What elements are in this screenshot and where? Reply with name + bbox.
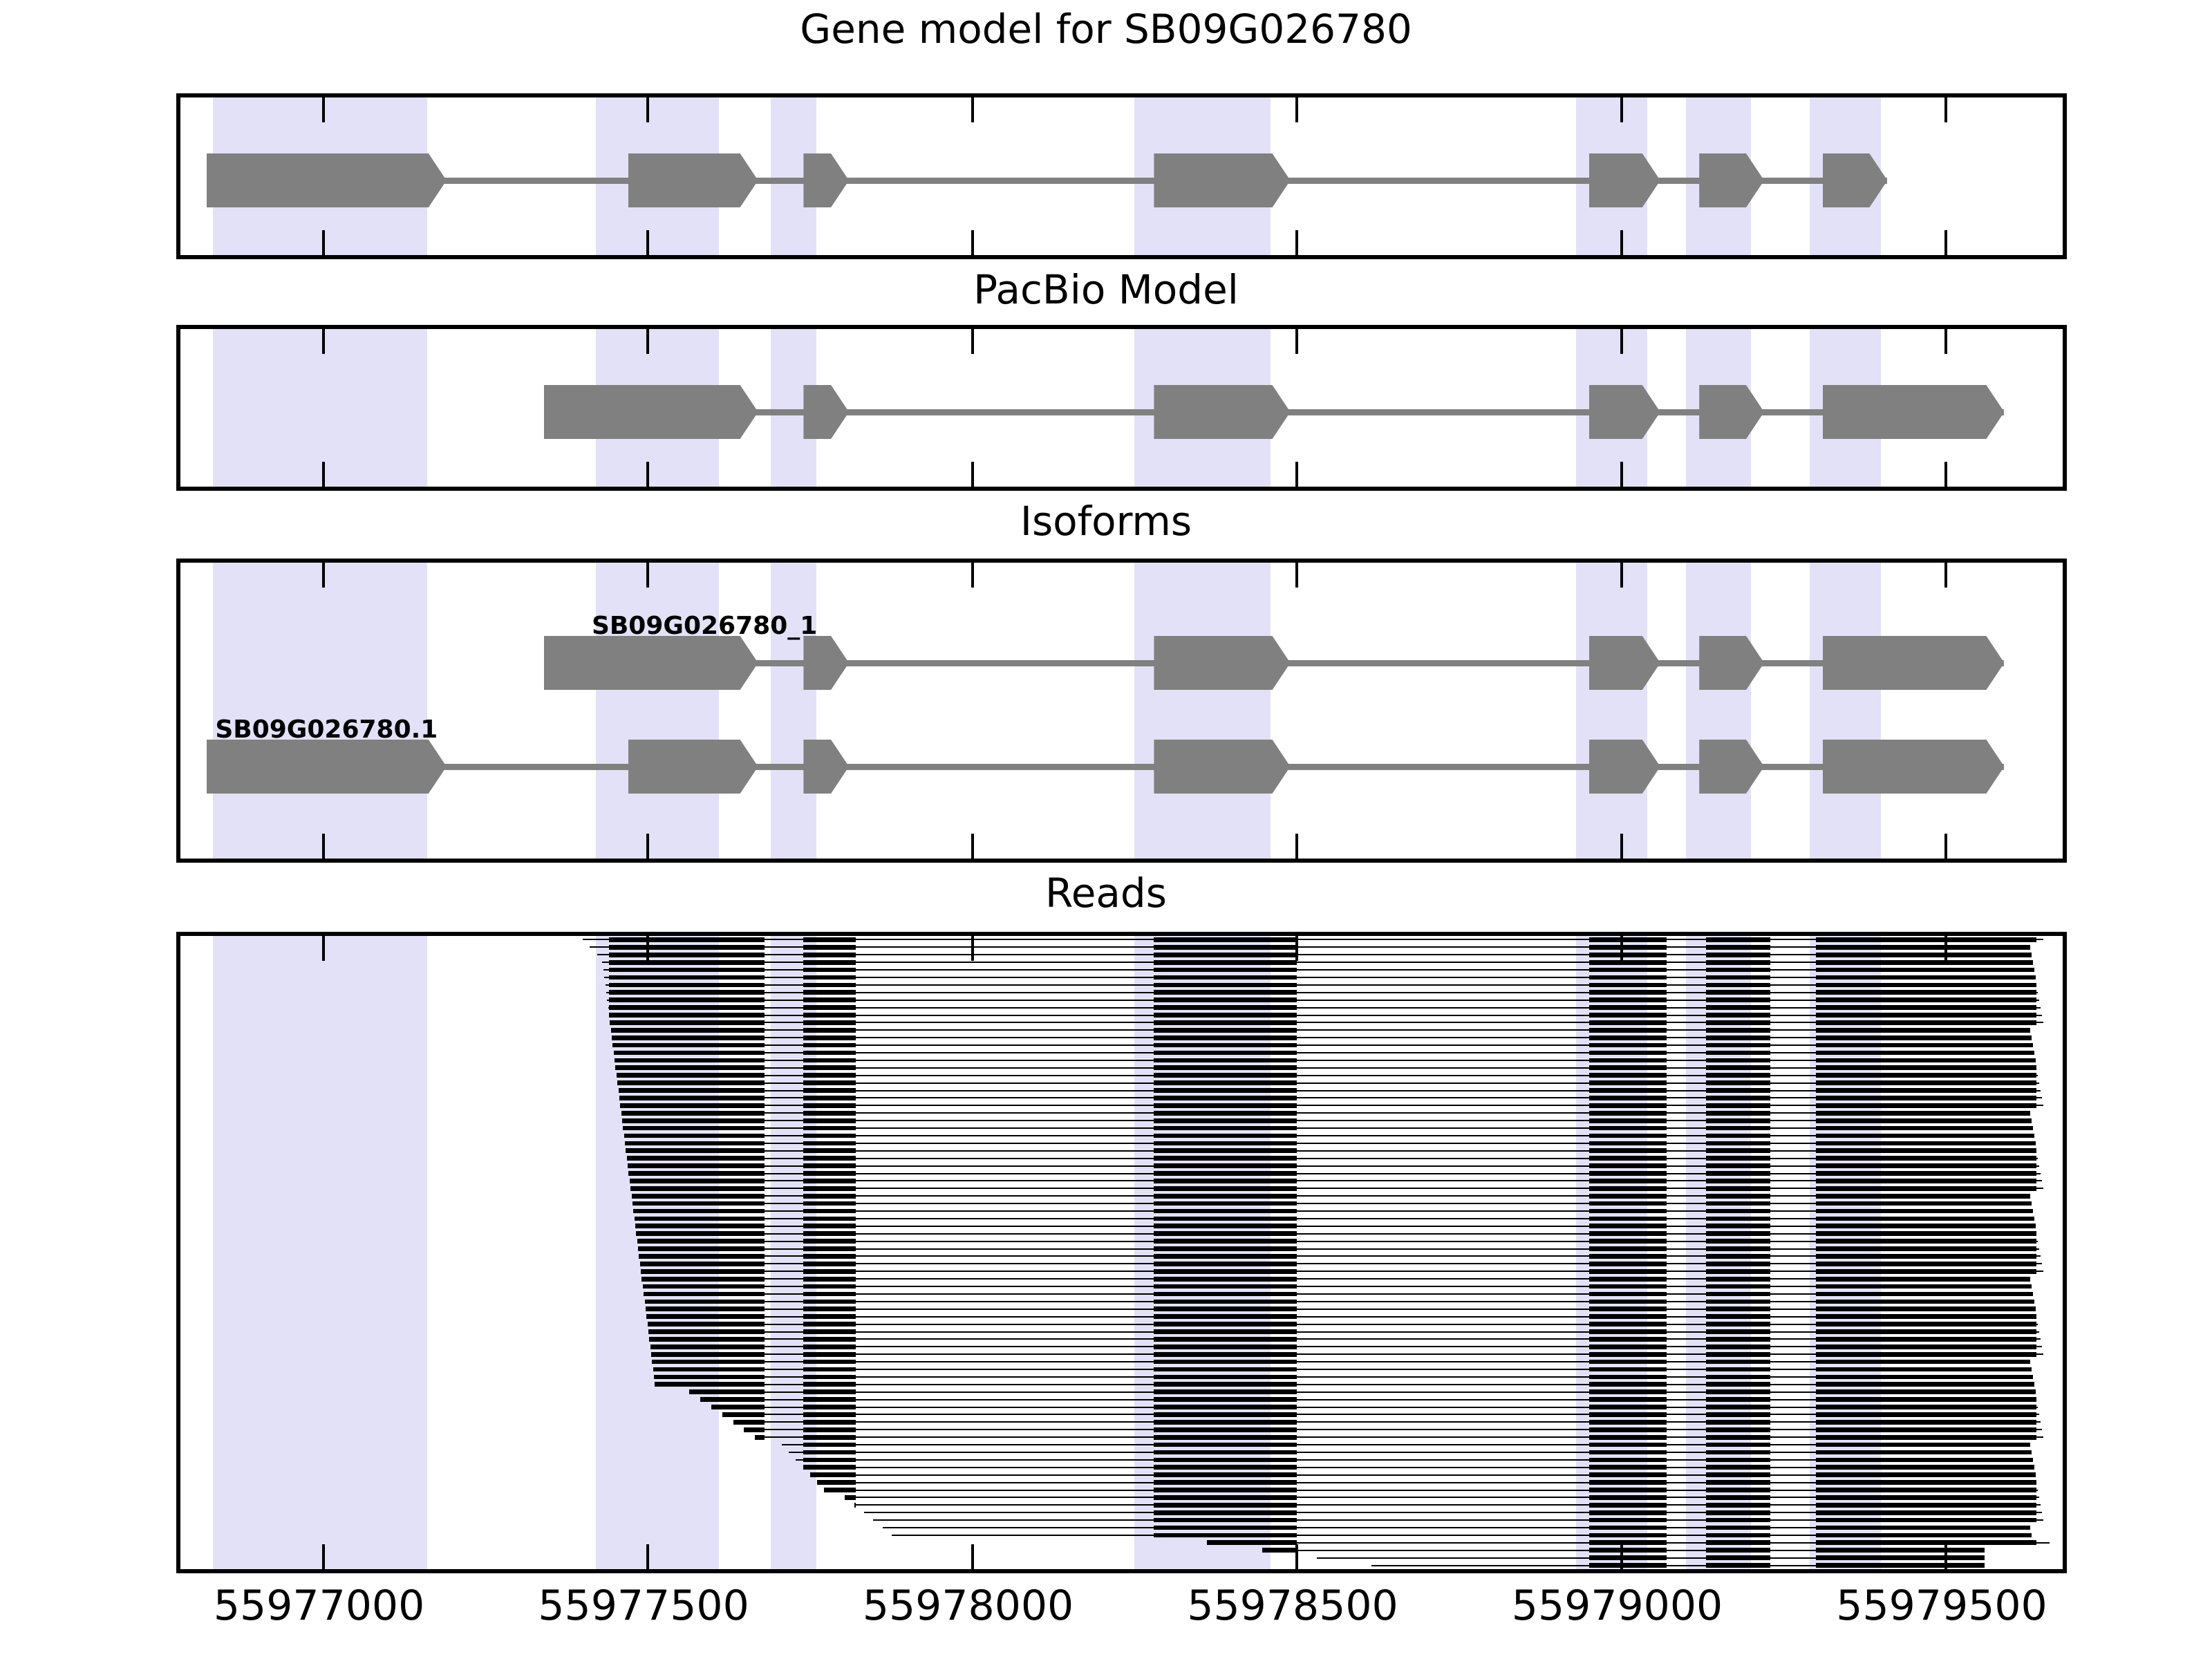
read-exon-block: [617, 1073, 765, 1078]
axis-tick: [971, 462, 974, 487]
exon-block: [1823, 740, 2005, 794]
read-exon-block: [1816, 1397, 2036, 1402]
axis-tick: [1620, 97, 1623, 122]
exon-block: [803, 740, 849, 794]
read-exon-block: [803, 1118, 855, 1123]
highlight-band: [771, 563, 816, 859]
read-exon-block: [1706, 1111, 1771, 1116]
read-exon-block: [1589, 1284, 1667, 1289]
read-exon-block: [1816, 1488, 2036, 1492]
read-exon-block: [1816, 997, 2036, 1002]
read-exon-block: [1589, 1148, 1667, 1153]
read-exon-block: [1706, 1005, 1771, 1010]
read-exon-block: [1816, 1171, 2036, 1176]
read-exon-block: [1816, 1269, 2036, 1274]
read-exon-block: [1706, 1231, 1771, 1236]
read-exon-block: [1816, 1118, 2032, 1123]
read-exon-block: [646, 1306, 765, 1311]
read-exon-block: [1589, 1563, 1667, 1568]
read-exon-block: [1706, 1043, 1771, 1048]
read-exon-block: [1589, 1186, 1667, 1191]
exon-block: [628, 153, 758, 207]
read-exon-block: [1589, 1443, 1667, 1447]
read-exon-block: [1706, 937, 1771, 942]
read-exon-block: [1589, 1179, 1667, 1183]
read-exon-block: [1706, 960, 1771, 965]
read-exon-block: [1706, 1329, 1771, 1334]
read-exon-block: [1154, 1163, 1297, 1168]
read-exon-block: [1154, 945, 1297, 950]
axis-tick: [1620, 462, 1623, 487]
read-exon-block: [1706, 1194, 1771, 1199]
read-exon-block: [803, 1028, 855, 1033]
axis-tick: [322, 329, 325, 354]
read-exon-block: [1706, 1397, 1771, 1402]
read-exon-block: [1816, 1375, 2033, 1380]
read-exon-block: [803, 1465, 855, 1470]
read-exon-block: [803, 983, 855, 988]
read-exon-block: [1589, 1277, 1667, 1282]
axis-tick: [1295, 563, 1298, 588]
panel-title-gene-model: Gene model for SB09G026780: [0, 6, 2212, 53]
read-exon-block: [1154, 1005, 1297, 1010]
read-exon-block: [1589, 1306, 1667, 1311]
read-exon-block: [1589, 1375, 1667, 1380]
read-exon-block: [1154, 1043, 1297, 1048]
read-exon-block: [803, 1065, 855, 1070]
read-exon-block: [1706, 1480, 1771, 1485]
read-exon-block: [803, 1352, 855, 1357]
read-exon-block: [803, 1217, 855, 1221]
read-exon-block: [803, 1096, 855, 1100]
read-exon-block: [1816, 1412, 2036, 1417]
read-exon-block: [1816, 1035, 2032, 1040]
read-exon-block: [609, 997, 765, 1002]
exon-block: [1823, 385, 2005, 439]
read-exon-block: [1816, 1224, 2035, 1228]
read-exon-block: [632, 1201, 765, 1206]
read-exon-block: [1816, 1186, 2036, 1191]
read-exon-block: [1154, 1217, 1297, 1221]
read-exon-block: [803, 1126, 855, 1131]
read-exon-block: [1816, 1405, 2036, 1409]
axis-tick: [1620, 834, 1623, 859]
gene-model-axes: [176, 93, 2067, 259]
read-exon-block: [1816, 1073, 2036, 1078]
read-exon-block: [1154, 1103, 1297, 1108]
read-exon-block: [1816, 1450, 2032, 1455]
read-exon-block: [803, 1171, 855, 1176]
read-exon-block: [1154, 1382, 1297, 1387]
read-exon-block: [1154, 1065, 1297, 1070]
read-exon-block: [1589, 1269, 1667, 1274]
read-exon-block: [1706, 1292, 1771, 1297]
read-exon-block: [1589, 1171, 1667, 1176]
read-exon-block: [803, 968, 855, 973]
read-exon-block: [1589, 1518, 1667, 1523]
axis-tick: [646, 563, 649, 588]
read-exon-block: [1589, 1540, 1667, 1545]
exon-block: [1154, 385, 1290, 439]
read-exon-block: [1816, 1503, 2036, 1508]
read-exon-block: [1706, 1171, 1771, 1176]
read-exon-block: [1706, 1141, 1771, 1146]
highlight-band: [1134, 563, 1271, 859]
x-tick-label: 55978000: [863, 1582, 1074, 1630]
read-exon-block: [1154, 1262, 1297, 1266]
read-exon-block: [1816, 1231, 2036, 1236]
read-exon-block: [1816, 1526, 2030, 1530]
read-exon-block: [1154, 1518, 1297, 1523]
genome-browser-figure: Gene model for SB09G026780 PacBio Model …: [0, 0, 2212, 1659]
read-exon-block: [1816, 1518, 2036, 1523]
read-exon-block: [711, 1405, 765, 1409]
read-exon-block: [1154, 1397, 1297, 1402]
highlight-band: [1686, 563, 1751, 859]
read-exon-block: [1589, 1382, 1667, 1387]
read-exon-block: [1706, 1096, 1771, 1100]
read-exon-block: [803, 1043, 855, 1048]
axis-tick: [646, 462, 649, 487]
read-exon-block: [1816, 1051, 2034, 1056]
read-exon-block: [1816, 960, 2033, 965]
read-exon-block: [1589, 1141, 1667, 1146]
read-exon-block: [1706, 1465, 1771, 1470]
axis-tick: [322, 462, 325, 487]
read-exon-block: [1816, 1277, 2030, 1282]
read-exon-block: [1816, 1217, 2034, 1221]
read-exon-block: [1816, 953, 2032, 957]
read-exon-block: [1589, 1548, 1667, 1553]
read-exon-block: [1706, 1284, 1771, 1289]
read-exon-block: [803, 1284, 855, 1289]
axis-tick: [646, 97, 649, 122]
read-exon-block: [1589, 1005, 1667, 1010]
read-exon-block: [1589, 1111, 1667, 1116]
read-exon-block: [1706, 1126, 1771, 1131]
read-exon-block: [1816, 1329, 2036, 1334]
read-exon-block: [1589, 953, 1667, 957]
read-exon-block: [1589, 1020, 1667, 1025]
read-exon-block: [803, 1375, 855, 1380]
read-exon-block: [609, 968, 765, 973]
read-exon-block: [1706, 1518, 1771, 1523]
read-exon-block: [1816, 1548, 1985, 1553]
read-exon-block: [1589, 1262, 1667, 1266]
read-exon-block: [1589, 1118, 1667, 1123]
read-exon-block: [1589, 1051, 1667, 1056]
read-exon-block: [611, 1028, 765, 1033]
read-exon-block: [1816, 968, 2034, 973]
read-exon-block: [1706, 1488, 1771, 1492]
read-exon-block: [803, 1224, 855, 1228]
read-exon-block: [646, 1314, 765, 1319]
read-exon-block: [1154, 1239, 1297, 1244]
read-exon-block: [1816, 1563, 1985, 1568]
read-exon-block: [1706, 1201, 1771, 1206]
read-exon-block: [1154, 1194, 1297, 1199]
read-exon-block: [1154, 1322, 1297, 1327]
read-exon-block: [1816, 1292, 2033, 1297]
read-exon-block: [1589, 1389, 1667, 1394]
read-exon-block: [1589, 1096, 1667, 1100]
read-exon-block: [1706, 1352, 1771, 1357]
read-exon-block: [1816, 1360, 2030, 1365]
read-exon-block: [1816, 1510, 2036, 1515]
read-exon-block: [1816, 1065, 2036, 1070]
axis-tick: [1944, 97, 1947, 122]
read-exon-block: [1589, 1360, 1667, 1365]
read-exon-block: [803, 1306, 855, 1311]
exon-block: [1823, 153, 1888, 207]
read-exon-block: [1589, 1555, 1667, 1560]
read-exon-block: [1706, 983, 1771, 988]
read-exon-block: [803, 1277, 855, 1282]
read-exon-block: [803, 1337, 855, 1342]
read-exon-block: [1706, 997, 1771, 1002]
read-exon-block: [1816, 1344, 2036, 1349]
read-exon-block: [803, 1450, 855, 1455]
read-exon-block: [803, 1209, 855, 1214]
read-exon-block: [1706, 1435, 1771, 1440]
read-exon-block: [803, 1134, 855, 1138]
read-exon-block: [1816, 1540, 2036, 1545]
read-exon-block: [1589, 1405, 1667, 1409]
read-exon-block: [1706, 1134, 1771, 1138]
axis-tick: [971, 834, 974, 859]
axis-tick: [971, 97, 974, 122]
read-exon-block: [1589, 1480, 1667, 1485]
read-exon-block: [1816, 1458, 2033, 1463]
read-exon-block: [655, 1382, 765, 1387]
read-exon-block: [1706, 1209, 1771, 1214]
read-exon-block: [803, 1269, 855, 1274]
read-exon-block: [1589, 1435, 1667, 1440]
read-exon-block: [1589, 975, 1667, 980]
exon-block: [544, 636, 758, 690]
read-exon-block: [1154, 968, 1297, 973]
read-exon-block: [1589, 1292, 1667, 1297]
read-exon-block: [622, 1118, 765, 1123]
axis-tick: [1944, 563, 1947, 588]
axis-tick: [1944, 462, 1947, 487]
read-exon-block: [1154, 1013, 1297, 1018]
read-exon-block: [1154, 1254, 1297, 1259]
read-exon-block: [1589, 937, 1667, 942]
read-exon-block: [615, 1065, 765, 1070]
read-exon-block: [1154, 1080, 1297, 1085]
read-exon-block: [1589, 1058, 1667, 1063]
read-exon-block: [1154, 1096, 1297, 1100]
read-exon-block: [1589, 1344, 1667, 1349]
read-exon-block: [803, 1382, 855, 1387]
read-exon-block: [1589, 1472, 1667, 1477]
read-exon-block: [1589, 1352, 1667, 1357]
read-exon-block: [609, 990, 765, 995]
read-exon-block: [803, 1179, 855, 1183]
read-exon-block: [1816, 1020, 2036, 1025]
read-exon-block: [1706, 1088, 1771, 1093]
axis-tick: [646, 230, 649, 255]
read-exon-block: [803, 975, 855, 980]
read-exon-block: [803, 1344, 855, 1349]
read-exon-block: [1816, 1194, 2030, 1199]
read-exon-block: [1154, 1058, 1297, 1063]
read-exon-block: [1816, 1367, 2032, 1372]
read-exon-block: [1154, 1495, 1297, 1500]
read-exon-block: [1816, 1427, 2036, 1432]
read-exon-block: [1706, 1013, 1771, 1018]
read-exon-block: [654, 1375, 765, 1380]
read-exon-block: [1706, 990, 1771, 995]
read-exon-block: [1706, 953, 1771, 957]
read-exon-block: [803, 945, 855, 950]
x-tick-label: 55977500: [538, 1582, 749, 1630]
read-exon-block: [1154, 997, 1297, 1002]
read-exon-block: [733, 1420, 765, 1425]
read-exon-block: [1589, 1080, 1667, 1085]
read-exon-block: [1706, 1344, 1771, 1349]
highlight-band: [213, 329, 427, 487]
read-exon-block: [632, 1194, 765, 1199]
read-exon-block: [1589, 1510, 1667, 1515]
read-exon-block: [824, 1488, 855, 1492]
read-exon-block: [803, 1262, 855, 1266]
exon-block: [1699, 153, 1764, 207]
read-exon-block: [1154, 1375, 1297, 1380]
read-exon-block: [1154, 1171, 1297, 1176]
read-exon-block: [803, 1051, 855, 1056]
read-exon-block: [1706, 1239, 1771, 1244]
read-exon-block: [1816, 1533, 2032, 1538]
axis-tick: [1295, 834, 1298, 859]
x-tick-label: 55977000: [214, 1582, 424, 1630]
read-exon-block: [1816, 1495, 2036, 1500]
read-exon-block: [1154, 1269, 1297, 1274]
highlight-band: [213, 563, 427, 859]
read-exon-block: [638, 1246, 765, 1251]
read-exon-block: [803, 1246, 855, 1251]
read-exon-block: [803, 1013, 855, 1018]
read-exon-block: [1154, 1352, 1297, 1357]
read-exon-block: [803, 1397, 855, 1402]
read-exon-block: [635, 1224, 765, 1228]
read-exon-block: [1589, 1073, 1667, 1078]
axis-tick: [646, 834, 649, 859]
read-exon-block: [803, 1435, 855, 1440]
read-exon-block: [1706, 1073, 1771, 1078]
read-exon-block: [1154, 1526, 1297, 1530]
read-exon-block: [1816, 1163, 2036, 1168]
read-exon-block: [633, 1209, 765, 1214]
read-exon-block: [803, 997, 855, 1002]
read-exon-block: [1816, 1028, 2030, 1033]
read-exon-block: [1154, 1020, 1297, 1025]
isoform-label: SB09G026780.1: [215, 715, 438, 744]
axis-tick: [322, 97, 325, 122]
read-exon-block: [617, 1080, 765, 1085]
read-exon-block: [1816, 1420, 2036, 1425]
read-exon-block: [1706, 1367, 1771, 1372]
read-exon-block: [803, 1156, 855, 1161]
read-exon-block: [1589, 1367, 1667, 1372]
read-exon-block: [639, 1254, 765, 1259]
read-exon-block: [803, 1300, 855, 1304]
exon-block: [544, 385, 758, 439]
read-exon-block: [652, 1360, 765, 1365]
read-exon-block: [1816, 1306, 2035, 1311]
read-exon-block: [1154, 1209, 1297, 1214]
read-exon-block: [1154, 1073, 1297, 1078]
read-exon-block: [1154, 937, 1297, 942]
read-exon-block: [1706, 1148, 1771, 1153]
read-exon-block: [609, 983, 765, 988]
read-exon-block: [1706, 1020, 1771, 1025]
read-exon-block: [1589, 1314, 1667, 1319]
read-exon-block: [1154, 1035, 1297, 1040]
read-exon-block: [1816, 990, 2036, 995]
read-exon-block: [1706, 1254, 1771, 1259]
read-exon-block: [1154, 1443, 1297, 1447]
read-exon-block: [609, 960, 765, 965]
read-exon-block: [1706, 1103, 1771, 1108]
read-exon-block: [1589, 1465, 1667, 1470]
read-exon-block: [1706, 1450, 1771, 1455]
read-exon-block: [1154, 1337, 1297, 1342]
read-exon-block: [1589, 960, 1667, 965]
read-exon-block: [1589, 1209, 1667, 1214]
read-exon-block: [1589, 1201, 1667, 1206]
read-exon-block: [644, 1292, 765, 1297]
read-exon-block: [641, 1277, 765, 1282]
read-exon-block: [1816, 1239, 2036, 1244]
read-exon-block: [1816, 1209, 2033, 1214]
isoforms-axes: [176, 559, 2067, 863]
read-exon-block: [1706, 1277, 1771, 1282]
read-exon-block: [1706, 1458, 1771, 1463]
read-exon-block: [803, 1080, 855, 1085]
read-exon-block: [803, 1254, 855, 1259]
read-exon-block: [1589, 1495, 1667, 1500]
axis-tick: [646, 1544, 649, 1569]
read-exon-block: [803, 1412, 855, 1417]
read-exon-block: [1589, 990, 1667, 995]
read-exon-block: [1816, 1555, 1985, 1560]
read-exon-block: [614, 1051, 765, 1056]
exon-block: [628, 740, 758, 794]
read-exon-block: [1706, 1555, 1771, 1560]
read-exon-block: [1706, 1035, 1771, 1040]
read-exon-block: [803, 1292, 855, 1297]
read-exon-block: [803, 1314, 855, 1319]
read-exon-block: [1706, 1375, 1771, 1380]
read-exon-block: [619, 1088, 765, 1093]
read-exon-block: [630, 1179, 765, 1183]
read-exon-block: [1706, 945, 1771, 950]
read-exon-block: [1589, 1329, 1667, 1334]
read-exon-block: [1154, 1300, 1297, 1304]
read-exon-block: [1706, 1540, 1771, 1545]
read-exon-block: [1589, 1088, 1667, 1093]
read-exon-block: [1816, 1465, 2034, 1470]
read-exon-block: [648, 1329, 765, 1334]
exon-block: [1589, 740, 1660, 794]
read-exon-block: [803, 1420, 855, 1425]
read-exon-block: [1706, 1058, 1771, 1063]
read-exon-block: [1706, 1427, 1771, 1432]
axis-tick: [322, 563, 325, 588]
read-exon-block: [1706, 1224, 1771, 1228]
